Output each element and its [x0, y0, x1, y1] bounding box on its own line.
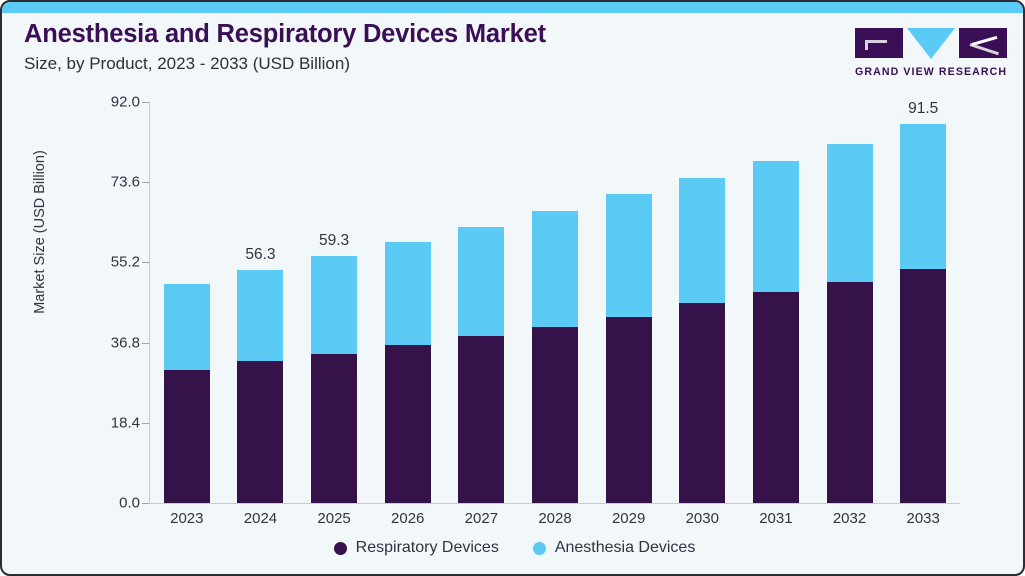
x-tick-label: 2031	[739, 510, 813, 527]
x-tick-label: 2023	[150, 510, 224, 527]
stacked-bar[interactable]	[679, 178, 725, 503]
y-tick-label: 36.8	[80, 334, 140, 351]
bar-segment-anesthesia[interactable]	[753, 161, 799, 291]
bar-group[interactable]	[665, 102, 739, 503]
y-tick-label: 55.2	[80, 254, 140, 271]
bar-segment-anesthesia[interactable]	[164, 284, 210, 370]
bar-segment-anesthesia[interactable]	[311, 256, 357, 353]
bar-group[interactable]	[150, 102, 224, 503]
stacked-bar[interactable]	[164, 284, 210, 503]
bar-group[interactable]	[371, 102, 445, 503]
x-tick-label: 2029	[592, 510, 666, 527]
stacked-bar[interactable]	[606, 194, 652, 503]
stacked-bar[interactable]	[385, 242, 431, 503]
y-tick-mark	[142, 423, 149, 424]
bar-segment-respiratory[interactable]	[458, 336, 504, 503]
bar-group[interactable]	[518, 102, 592, 503]
x-tick-label: 2026	[371, 510, 445, 527]
bar-segment-respiratory[interactable]	[827, 282, 873, 503]
legend-label: Respiratory Devices	[356, 539, 499, 557]
y-tick-label: 18.4	[80, 414, 140, 431]
x-tick-label: 2030	[665, 510, 739, 527]
bar-segment-anesthesia[interactable]	[385, 242, 431, 345]
bar-group[interactable]: 91.5	[886, 102, 960, 503]
legend-marker-icon	[533, 542, 546, 555]
stacked-bar[interactable]: 59.3	[311, 256, 357, 503]
bar-segment-respiratory[interactable]	[532, 327, 578, 503]
x-tick-label: 2027	[444, 510, 518, 527]
bar-value-label: 56.3	[245, 246, 275, 264]
legend-marker-icon	[334, 542, 347, 555]
stacked-bar[interactable]: 56.3	[237, 270, 283, 503]
x-tick-label: 2025	[297, 510, 371, 527]
stacked-bar[interactable]	[458, 227, 504, 503]
bar-value-label: 91.5	[908, 100, 938, 118]
bar-value-label: 59.3	[319, 232, 349, 250]
chart-legend: Respiratory DevicesAnesthesia Devices	[2, 539, 1025, 557]
stacked-bar[interactable]: 91.5	[900, 124, 946, 503]
legend-item[interactable]: Anesthesia Devices	[533, 539, 696, 557]
bar-segment-respiratory[interactable]	[900, 269, 946, 503]
stacked-bar[interactable]	[532, 211, 578, 503]
bar-segment-anesthesia[interactable]	[827, 144, 873, 282]
bar-group[interactable]	[445, 102, 519, 503]
y-tick-mark	[142, 503, 149, 504]
bar-segment-anesthesia[interactable]	[237, 270, 283, 362]
bar-segment-anesthesia[interactable]	[606, 194, 652, 317]
y-axis-title: Market Size (USD Billion)	[32, 102, 48, 362]
bar-segment-respiratory[interactable]	[164, 370, 210, 503]
x-tick-label: 2033	[886, 510, 960, 527]
stacked-bar[interactable]	[827, 144, 873, 503]
x-tick-label: 2028	[518, 510, 592, 527]
x-tick-label: 2032	[813, 510, 887, 527]
y-tick-mark	[142, 343, 149, 344]
y-tick-label: 92.0	[80, 94, 140, 111]
legend-label: Anesthesia Devices	[555, 539, 696, 557]
bar-group[interactable]: 56.3	[224, 102, 298, 503]
y-tick-label: 0.0	[80, 495, 140, 512]
bar-segment-anesthesia[interactable]	[458, 227, 504, 336]
y-tick-mark	[142, 182, 149, 183]
bar-segment-respiratory[interactable]	[385, 345, 431, 503]
bar-group[interactable]	[813, 102, 887, 503]
chart-card: Anesthesia and Respiratory Devices Marke…	[0, 0, 1025, 576]
y-tick-mark	[142, 262, 149, 263]
bar-segment-anesthesia[interactable]	[532, 211, 578, 327]
x-tick-label: 2024	[223, 510, 297, 527]
stacked-bar[interactable]	[753, 161, 799, 503]
bar-segment-respiratory[interactable]	[753, 292, 799, 503]
bar-segment-respiratory[interactable]	[311, 354, 357, 504]
bar-segment-respiratory[interactable]	[237, 361, 283, 503]
bar-group[interactable]	[592, 102, 666, 503]
y-tick-mark	[142, 102, 149, 103]
plot-area: Market Size (USD Billion) 0.018.436.855.…	[2, 2, 1025, 576]
legend-item[interactable]: Respiratory Devices	[334, 539, 499, 557]
x-axis-line	[149, 503, 960, 504]
bar-series-container: 56.359.391.5	[150, 102, 960, 503]
bar-segment-respiratory[interactable]	[606, 317, 652, 503]
y-tick-label: 73.6	[80, 174, 140, 191]
bar-segment-anesthesia[interactable]	[679, 178, 725, 303]
bar-group[interactable]: 59.3	[297, 102, 371, 503]
bar-group[interactable]	[739, 102, 813, 503]
bar-segment-anesthesia[interactable]	[900, 124, 946, 269]
bar-segment-respiratory[interactable]	[679, 303, 725, 504]
